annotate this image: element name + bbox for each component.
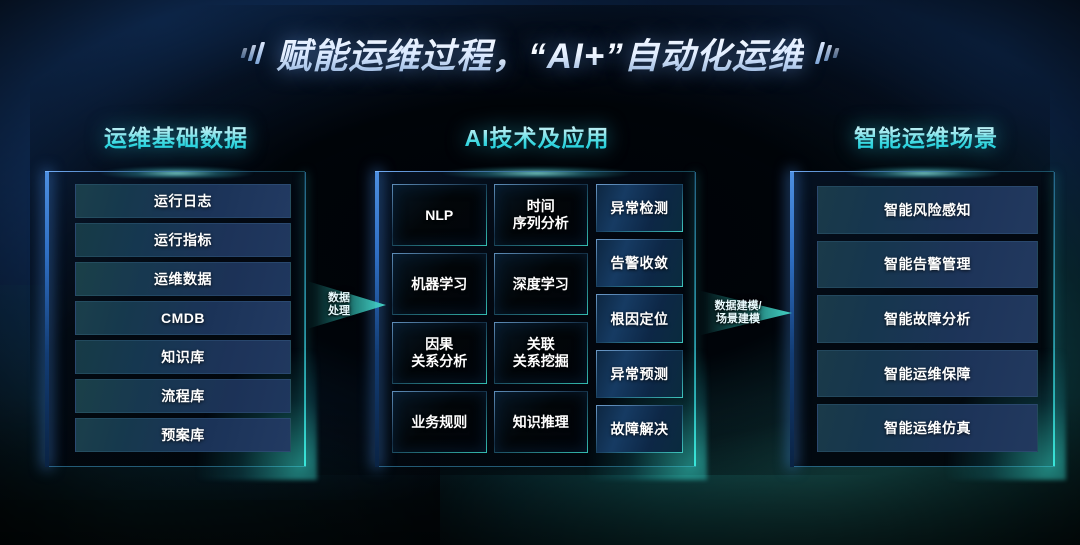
grid-cell[interactable]: 时间序列分析 [494, 184, 589, 246]
list-item[interactable]: 预案库 [75, 418, 291, 452]
panel-right-glow [1053, 172, 1055, 466]
grid-cell[interactable]: 深度学习 [494, 253, 589, 315]
flow-arrow-data-processing: 数据处理 [308, 272, 386, 338]
list-item[interactable]: 运行日志 [75, 184, 291, 218]
grid-cell[interactable]: 业务规则 [392, 391, 487, 453]
panel-right-glow [304, 172, 306, 466]
headline: 赋能运维过程，“AI+”自动化运维 [0, 22, 1080, 84]
grid-cell[interactable]: 知识推理 [494, 391, 589, 453]
decorative-ticks-left [242, 42, 262, 64]
aiops-scenario-list: 智能风险感知 智能告警管理 智能故障分析 智能运维保障 智能运维仿真 [817, 186, 1038, 452]
list-item[interactable]: 运维数据 [75, 262, 291, 296]
list-item[interactable]: 根因定位 [596, 294, 683, 342]
decorative-ticks-right [818, 42, 838, 64]
list-item[interactable]: 智能风险感知 [817, 186, 1038, 234]
tick-icon [823, 45, 832, 61]
grid-cell[interactable]: 机器学习 [392, 253, 487, 315]
list-item[interactable]: 告警收敛 [596, 239, 683, 287]
tick-icon [241, 48, 248, 58]
page-title: 赋能运维过程，“AI+”自动化运维 [276, 28, 803, 79]
list-item[interactable]: 知识库 [75, 340, 291, 374]
arrow-label: 数据处理 [328, 292, 366, 318]
grid-cell[interactable]: 因果关系分析 [392, 322, 487, 384]
column-title-right: 智能运维场景 [786, 119, 1066, 153]
tick-icon [832, 48, 839, 58]
list-item[interactable]: 异常检测 [596, 184, 683, 232]
arrow-label: 数据建模/场景建模 [714, 300, 777, 326]
list-item[interactable]: 智能告警管理 [817, 241, 1038, 289]
ai-technology-content: NLP 时间序列分析 机器学习 深度学习 因果关系分析 关联关系挖掘 业务规则 … [392, 184, 683, 453]
flow-arrow-data-modeling: 数据建模/场景建模 [700, 282, 792, 344]
panel-foundation-data: 运行日志 运行指标 运维数据 CMDB 知识库 流程库 预案库 [48, 172, 306, 467]
list-item[interactable]: 智能运维保障 [817, 350, 1038, 398]
grid-cell[interactable]: 关联关系挖掘 [494, 322, 589, 384]
column-title-middle: AI技术及应用 [378, 119, 696, 153]
list-item[interactable]: 智能运维仿真 [817, 404, 1038, 452]
tick-icon [255, 42, 265, 64]
list-item[interactable]: 故障解决 [596, 405, 683, 453]
list-item[interactable]: 智能故障分析 [817, 295, 1038, 343]
panel-right-glow [694, 172, 696, 466]
grid-cell[interactable]: NLP [392, 184, 487, 246]
column-title-left: 运维基础数据 [44, 119, 308, 153]
list-item[interactable]: 异常预测 [596, 350, 683, 398]
list-item[interactable]: 运行指标 [75, 223, 291, 257]
foundation-data-list: 运行日志 运行指标 运维数据 CMDB 知识库 流程库 预案库 [75, 184, 291, 452]
ai-capability-list: 异常检测 告警收敛 根因定位 异常预测 故障解决 [596, 184, 683, 453]
panel-aiops-scenarios: 智能风险感知 智能告警管理 智能故障分析 智能运维保障 智能运维仿真 [793, 172, 1055, 467]
ai-technique-grid: NLP 时间序列分析 机器学习 深度学习 因果关系分析 关联关系挖掘 业务规则 … [392, 184, 588, 453]
list-item[interactable]: 流程库 [75, 379, 291, 413]
list-item[interactable]: CMDB [75, 301, 291, 335]
panel-ai-technology: NLP 时间序列分析 机器学习 深度学习 因果关系分析 关联关系挖掘 业务规则 … [378, 172, 696, 467]
